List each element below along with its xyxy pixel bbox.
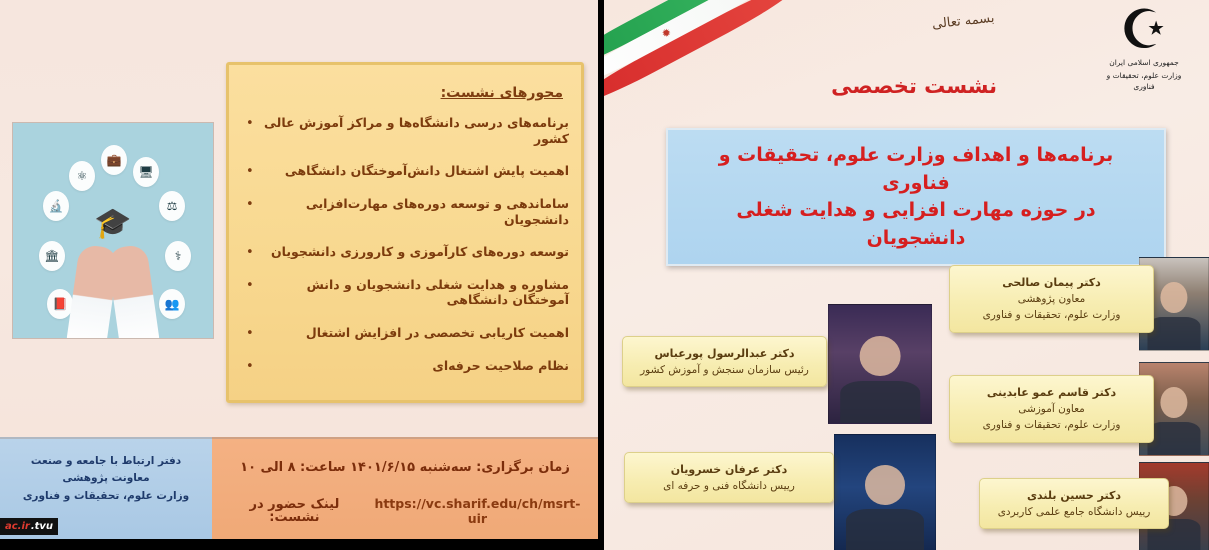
speaker-name: دکتر قاسم عمو عابدینی xyxy=(960,384,1143,401)
briefcase-icon: 💼 xyxy=(101,145,127,175)
organizer-line-3: وزارت علوم، تحقیقات و فناوری xyxy=(10,488,202,505)
tvu-watermark: tvu. ac.ir xyxy=(0,518,58,535)
schedule-link-row: لینک حضور در نشست: https://vc.sharif.edu… xyxy=(226,496,584,526)
topic-text: نظام صلاحیت حرفه‌ای xyxy=(256,358,569,374)
iran-national-emblem: ☪ جمهوری اسلامی ایران وزارت علوم، تحقیقا… xyxy=(1099,6,1189,92)
schedule-link-label: لینک حضور در نشست: xyxy=(226,498,363,524)
avatar xyxy=(1160,282,1187,313)
organizer-line-2: معاونت پژوهشی xyxy=(10,470,202,487)
avatar-body xyxy=(1147,317,1200,350)
speaker-card-salehi: دکتر پیمان صالحی معاون پژوهشی وزارت علوم… xyxy=(949,265,1154,333)
organizer-line-1: دفتر ارتباط با جامعه و صنعت xyxy=(10,453,202,470)
topic-text: ساماندهی و توسعه دوره‌های مهارت‌افزایی د… xyxy=(256,196,569,227)
watermark-part-1: tvu. xyxy=(31,521,53,532)
avatar xyxy=(1160,387,1187,418)
speaker-role-1: رییس دانشگاه فنی و حرفه ای xyxy=(635,478,823,494)
monitor-icon: 🖥 xyxy=(133,157,159,187)
topic-item: • اهمیت پایش اشتغال دانش‌آموختگان دانشگا… xyxy=(239,163,569,179)
topics-heading: محورهای نشست: xyxy=(239,85,563,101)
topic-item: • ساماندهی و توسعه دوره‌های مهارت‌افزایی… xyxy=(239,196,569,227)
bullet-icon: • xyxy=(246,165,254,178)
speaker-role-1: رئیس سازمان سنجش و آموزش کشور xyxy=(633,362,816,378)
topic-item: • اهمیت کاریابی تخصصی در افزایش اشتغال xyxy=(239,325,569,341)
topic-item: • نظام صلاحیت حرفه‌ای xyxy=(239,358,569,374)
schedule-time: زمان برگزاری: سه‌شنبه ۱۴۰۱/۶/۱۵ ساعت: ۸ … xyxy=(226,461,584,474)
session-topics-card: محورهای نشست: • برنامه‌های درسی دانشگاه‌… xyxy=(226,62,584,403)
avatar-body xyxy=(1147,422,1200,455)
bullet-icon: • xyxy=(246,117,254,130)
speaker-card-abedini: دکتر قاسم عمو عابدینی معاون آموزشی وزارت… xyxy=(949,375,1154,443)
speaker-role-2: وزارت علوم، تحقیقات و فناوری xyxy=(960,417,1143,433)
bullet-icon: • xyxy=(246,327,254,340)
title-line-2: در حوزه مهارت افزایی و هدایت شغلی دانشجو… xyxy=(684,197,1148,252)
bank-icon: 🏛 xyxy=(39,241,65,271)
right-hand xyxy=(106,244,159,339)
avatar-body xyxy=(840,381,920,423)
avatar xyxy=(860,336,901,376)
topic-text: اهمیت کاریابی تخصصی در افزایش اشتغال xyxy=(256,325,569,341)
topic-text: اهمیت پایش اشتغال دانش‌آموختگان دانشگاهی xyxy=(256,163,569,179)
bullet-icon: • xyxy=(246,279,254,292)
speaker-name: دکتر پیمان صالحی xyxy=(960,274,1143,291)
poster-pair-canvas: ⚛ 💼 🖥 ⚖ ⚕ 👥 📕 🏛 🔬 🎓 محورهای نشست: • برنا… xyxy=(0,0,1209,550)
topic-item: • توسعه دوره‌های کارآموزی و کارورزی دانش… xyxy=(239,244,569,260)
bullet-icon: • xyxy=(246,360,254,373)
bullet-icon: • xyxy=(246,246,254,259)
avatar xyxy=(865,465,905,504)
speaker-role-1: معاون پژوهشی xyxy=(960,291,1143,307)
speaker-name: دکتر عرفان خسرویان xyxy=(635,461,823,478)
avatar-body xyxy=(846,509,924,550)
watermark-part-2: ac.ir xyxy=(5,521,30,532)
medical-bag-icon: ⚕ xyxy=(165,241,191,271)
speaker-role-1: معاون آموزشی xyxy=(960,401,1143,417)
right-poster: ✹ بسمه تعالی ☪ جمهوری اسلامی ایران وزارت… xyxy=(604,0,1209,550)
atom-icon: ⚛ xyxy=(69,161,95,191)
people-group-icon: 👥 xyxy=(159,289,185,319)
topic-text: برنامه‌های درسی دانشگاه‌ها و مراکز آموزش… xyxy=(256,115,569,146)
topic-item: • برنامه‌های درسی دانشگاه‌ها و مراکز آمو… xyxy=(239,115,569,146)
emblem-sub-line-2: وزارت علوم، تحقیقات و فناوری xyxy=(1099,70,1189,93)
gavel-icon: ⚖ xyxy=(159,191,185,221)
schedule-band: زمان برگزاری: سه‌شنبه ۱۴۰۱/۶/۱۵ ساعت: ۸ … xyxy=(212,437,598,539)
speaker-card-bolandi: دکتر حسین بلندی رییس دانشگاه جامع علمی ک… xyxy=(979,478,1169,529)
speaker-name: دکتر عبدالرسول پورعباس xyxy=(633,345,816,362)
besmeh-taali-text: بسمه تعالی xyxy=(931,11,995,32)
emblem-sub-line-1: جمهوری اسلامی ایران xyxy=(1099,57,1189,68)
speaker-photo-pourabbas xyxy=(828,304,932,424)
title-line-1: برنامه‌ها و اهداف وزارت علوم، تحقیقات و … xyxy=(684,142,1148,197)
speaker-role-1: رییس دانشگاه جامع علمی کاربردی xyxy=(990,504,1158,520)
microscope-icon: 🔬 xyxy=(43,191,69,221)
session-type-heading: نشست تخصصی xyxy=(831,74,997,98)
left-poster: ⚛ 💼 🖥 ⚖ ⚕ 👥 📕 🏛 🔬 🎓 محورهای نشست: • برنا… xyxy=(0,0,598,545)
speaker-photo-khosroviyan xyxy=(834,434,936,550)
speaker-name: دکتر حسین بلندی xyxy=(990,487,1158,504)
speaker-card-khosroviyan: دکتر عرفان خسرویان رییس دانشگاه فنی و حر… xyxy=(624,452,834,503)
topic-text: توسعه دوره‌های کارآموزی و کارورزی دانشجو… xyxy=(256,244,569,260)
poster-title-box: برنامه‌ها و اهداف وزارت علوم، تحقیقات و … xyxy=(666,128,1166,266)
education-illustration: ⚛ 💼 🖥 ⚖ ⚕ 👥 📕 🏛 🔬 🎓 xyxy=(12,122,214,339)
allah-emblem-icon: ☪ xyxy=(1099,6,1189,55)
topic-item: • مشاوره و هدایت شغلی دانشجویان و دانش آ… xyxy=(239,277,569,308)
speaker-card-pourabbas: دکتر عبدالرسول پورعباس رئیس سازمان سنجش … xyxy=(622,336,827,387)
meeting-link[interactable]: https://vc.sharif.edu/ch/msrt-uir xyxy=(371,496,584,526)
bullet-icon: • xyxy=(246,198,254,211)
speaker-role-2: وزارت علوم، تحقیقات و فناوری xyxy=(960,307,1143,323)
topic-text: مشاوره و هدایت شغلی دانشجویان و دانش آمو… xyxy=(256,277,569,308)
hands-graphic xyxy=(65,234,161,339)
